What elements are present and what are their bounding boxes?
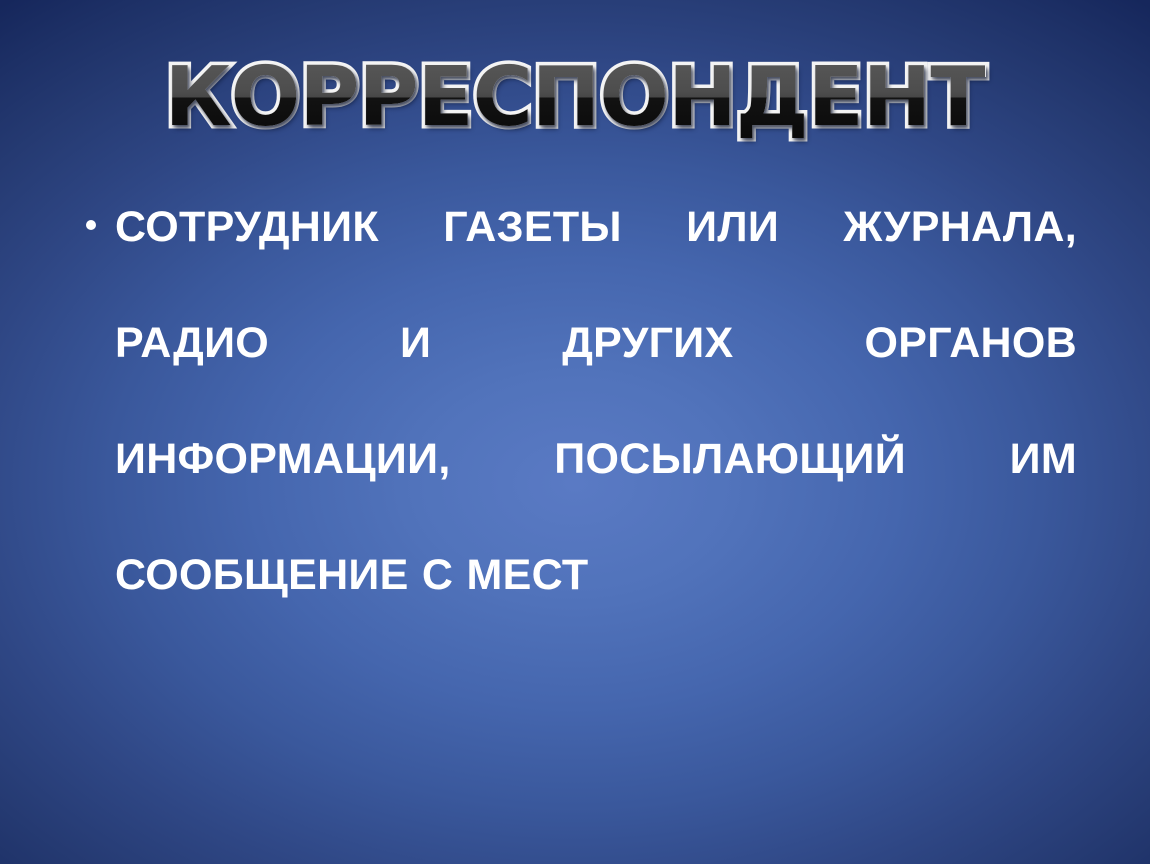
bullet-text-line-2: РАДИО И ДРУГИХ ОРГАНОВ	[115, 314, 1077, 430]
slide-canvas: КОРРЕСПОНДЕНТ КОРРЕСПОНДЕНТ СОТРУДНИК ГА…	[0, 0, 1150, 864]
bullet-text-line-4: СООБЩЕНИЕ С МЕСТ	[115, 546, 1077, 604]
bullet-text-line-1: СОТРУДНИК ГАЗЕТЫ ИЛИ ЖУРНАЛА,	[115, 198, 1077, 314]
bullet-dot-icon	[86, 220, 96, 230]
slide-title-fill-layer: КОРРЕСПОНДЕНТ	[165, 50, 986, 145]
slide-title-block: КОРРЕСПОНДЕНТ КОРРЕСПОНДЕНТ	[0, 54, 1150, 143]
slide-body-block: СОТРУДНИК ГАЗЕТЫ ИЛИ ЖУРНАЛА, РАДИО И ДР…	[75, 198, 1077, 604]
bullet-text-line-3: ИНФОРМАЦИИ, ПОСЫЛАЮЩИЙ ИМ	[115, 430, 1077, 546]
slide-title-wordart: КОРРЕСПОНДЕНТ КОРРЕСПОНДЕНТ	[165, 54, 986, 143]
bullet-list-item: СОТРУДНИК ГАЗЕТЫ ИЛИ ЖУРНАЛА, РАДИО И ДР…	[75, 198, 1077, 604]
